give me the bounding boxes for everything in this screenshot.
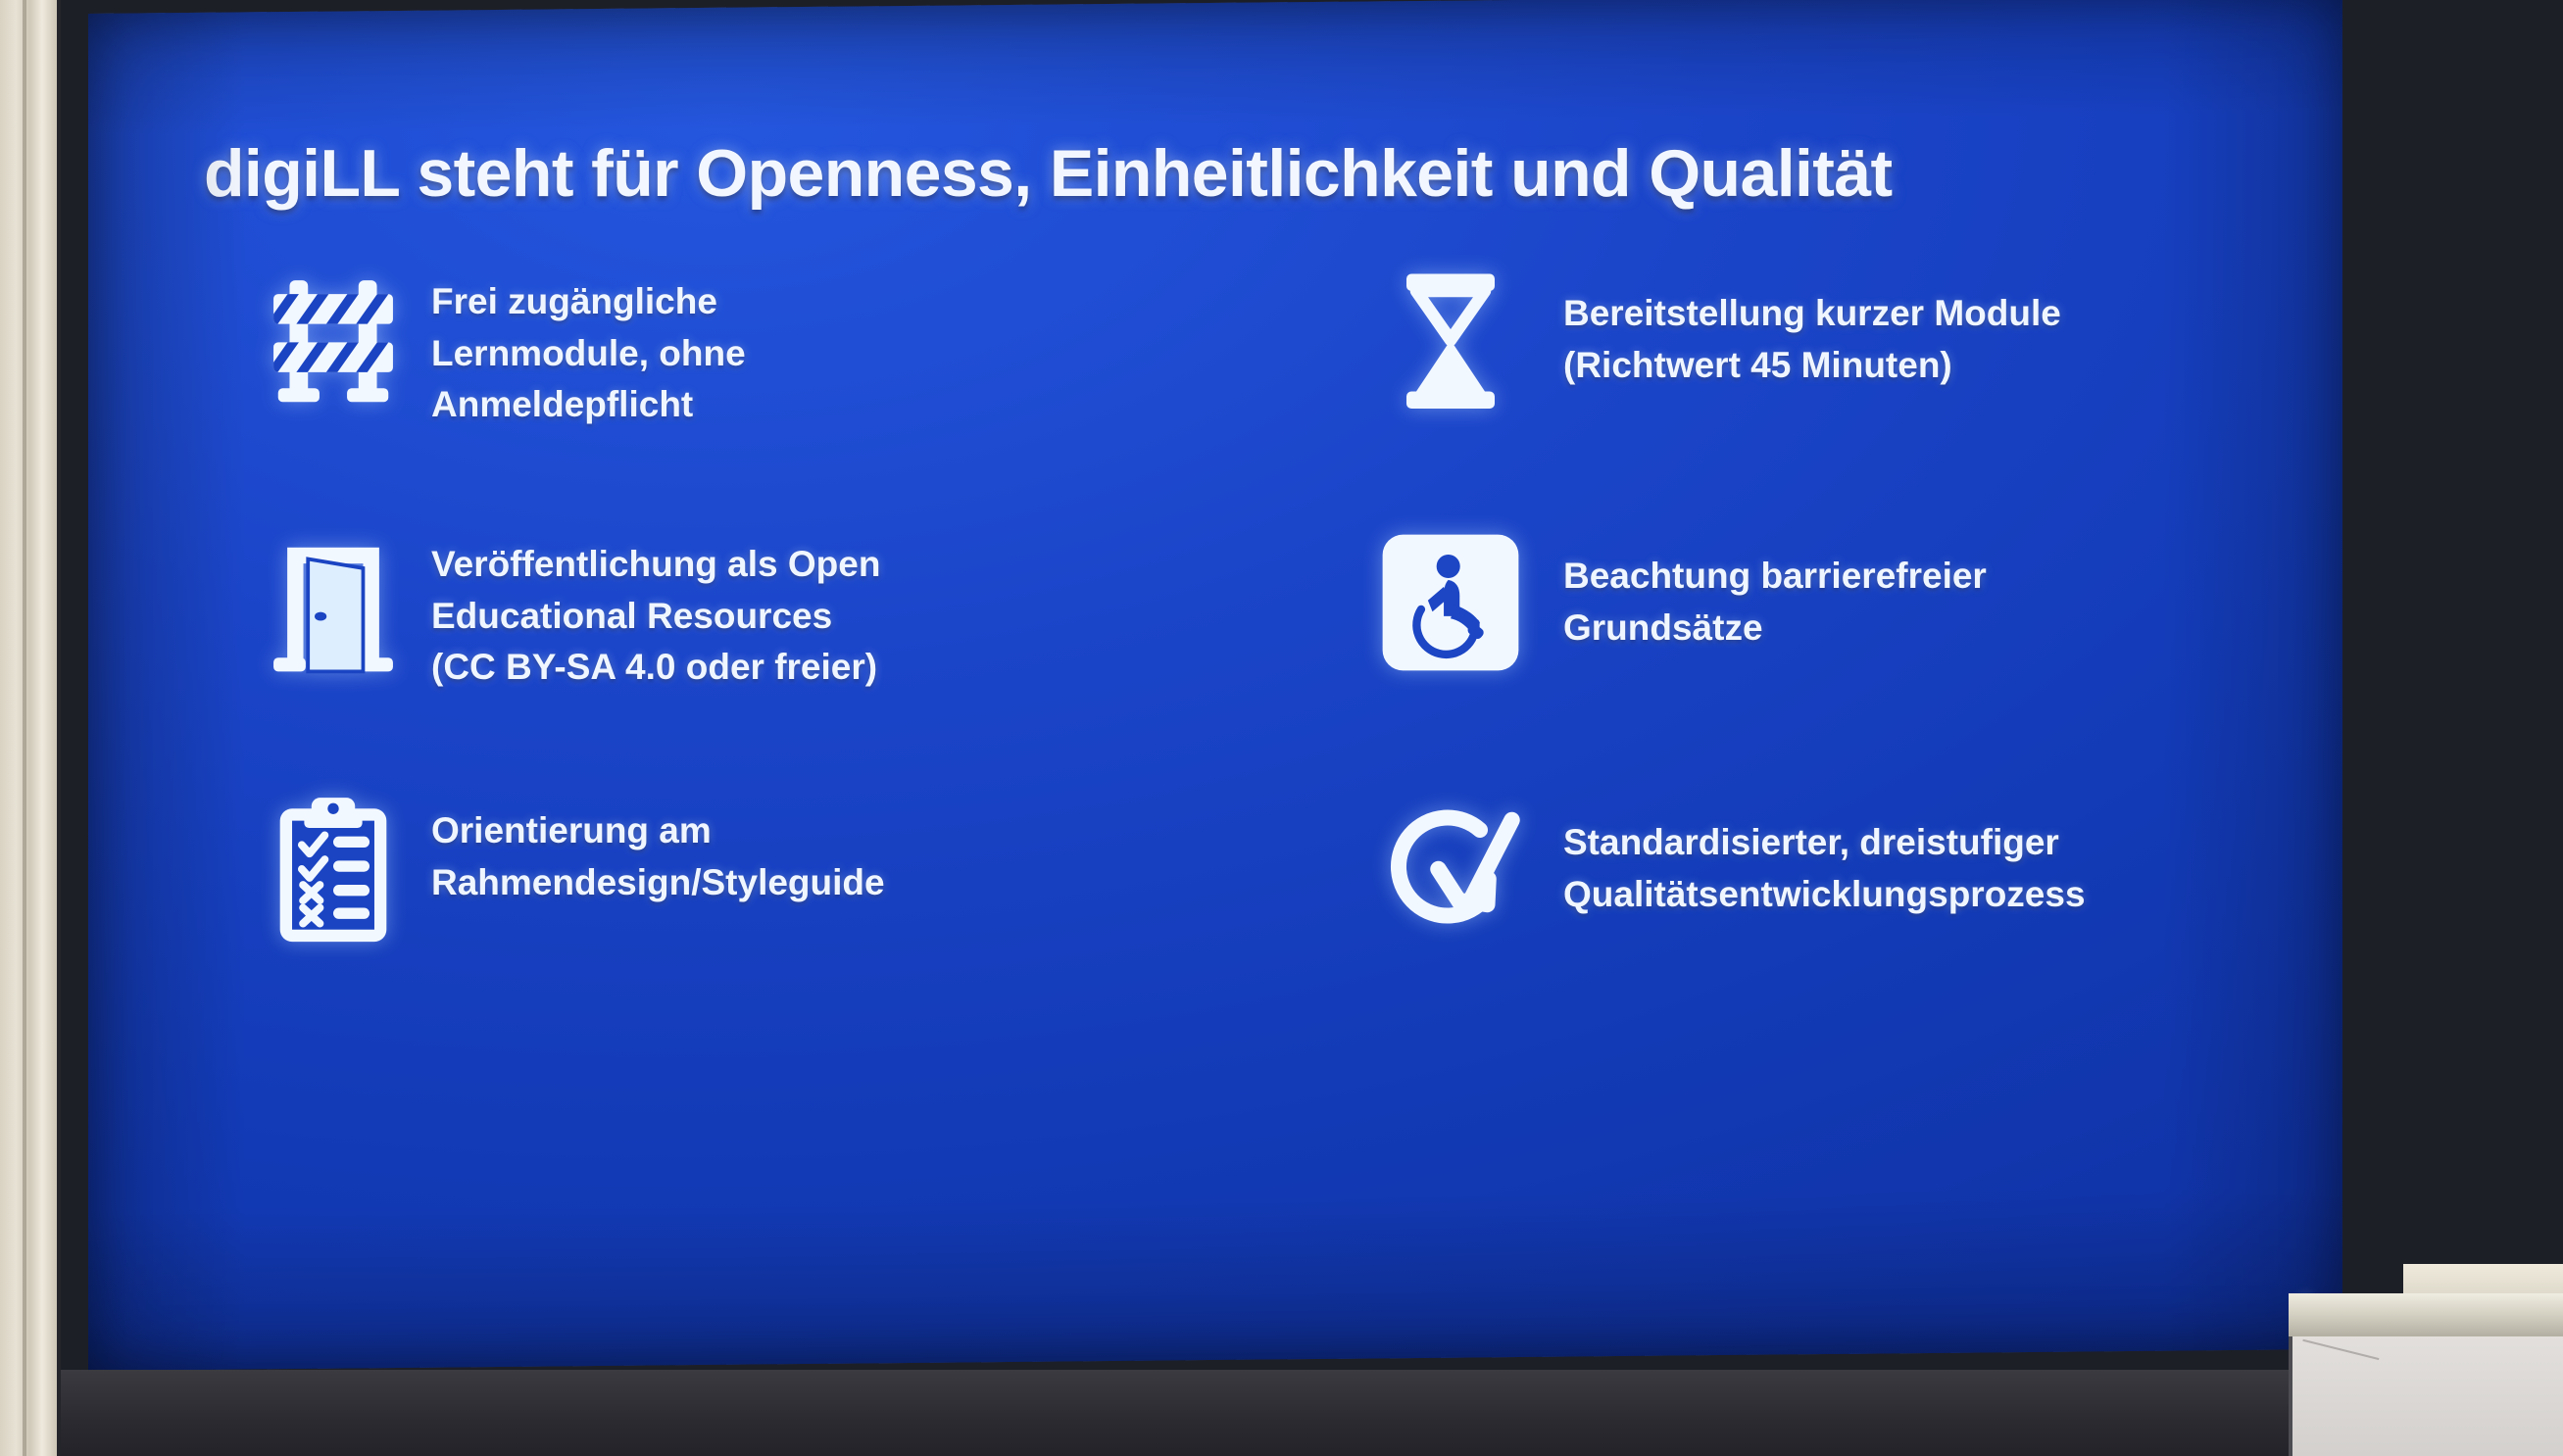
feature-text: Beachtung barrierefreier Grundsätze (1563, 510, 1987, 654)
feature-line: Beachtung barrierefreier (1563, 551, 1987, 603)
feature-line: (CC BY-SA 4.0 oder freier) (431, 642, 880, 694)
wall-strip (0, 0, 57, 1456)
slide-title: digiLL steht für Openness, Einheitlichke… (204, 139, 2223, 209)
feature-text: Frei zugängliche Lernmodule, ohne Anmeld… (431, 247, 746, 431)
feature-line: (Richtwert 45 Minuten) (1563, 340, 2061, 392)
feature-line: Lernmodule, ohne (431, 328, 746, 380)
feature-text: Veröffentlichung als Open Educational Re… (431, 510, 880, 694)
feature-line: Grundsätze (1563, 603, 1987, 655)
hourglass-icon (1338, 247, 1563, 433)
check-cycle-icon (1338, 776, 1563, 962)
projection-room-photo: digiLL steht für Openness, Einheitlichke… (0, 0, 2563, 1456)
feature-column-right: Bereitstellung kurzer Module (Richtwert … (1240, 247, 2342, 1041)
open-door-icon (235, 510, 431, 696)
feature-item: Orientierung am Rahmendesign/Styleguide (235, 776, 1240, 1041)
feature-text: Standardisierter, dreistufiger Qualitäts… (1563, 776, 2086, 920)
clipboard-checklist-icon (235, 776, 431, 962)
feature-line: Frei zugängliche (431, 276, 746, 328)
flipchart-foreground (2289, 1293, 2563, 1456)
wall-seam (23, 0, 26, 1456)
feature-line: Anmeldepflicht (431, 379, 746, 431)
feature-column-left: Frei zugängliche Lernmodule, ohne Anmeld… (88, 247, 1240, 1041)
flipchart-rail (2289, 1293, 2563, 1336)
feature-text: Orientierung am Rahmendesign/Styleguide (431, 776, 885, 908)
feature-text: Bereitstellung kurzer Module (Richtwert … (1563, 247, 2061, 391)
feature-line: Veröffentlichung als Open (431, 539, 880, 591)
feature-line: Standardisierter, dreistufiger (1563, 817, 2086, 869)
feature-item: Veröffentlichung als Open Educational Re… (235, 510, 1240, 776)
feature-item: Beachtung barrierefreier Grundsätze (1338, 510, 2342, 776)
feature-item: Frei zugängliche Lernmodule, ohne Anmeld… (235, 247, 1240, 510)
feature-item: Standardisierter, dreistufiger Qualitäts… (1338, 776, 2342, 1041)
presentation-slide: digiLL steht für Openness, Einheitlichke… (88, 0, 2342, 1371)
feature-line: Educational Resources (431, 591, 880, 643)
feature-line: Bereitstellung kurzer Module (1563, 288, 2061, 340)
feature-line: Qualitätsentwicklungsprozess (1563, 869, 2086, 921)
under-screen-band (61, 1370, 2563, 1456)
feature-line: Orientierung am (431, 805, 885, 857)
barrier-icon (235, 247, 431, 433)
feature-line: Rahmendesign/Styleguide (431, 857, 885, 909)
feature-columns: Frei zugängliche Lernmodule, ohne Anmeld… (88, 247, 2342, 1041)
feature-item: Bereitstellung kurzer Module (Richtwert … (1338, 247, 2342, 510)
wheelchair-accessibility-icon (1338, 510, 1563, 696)
